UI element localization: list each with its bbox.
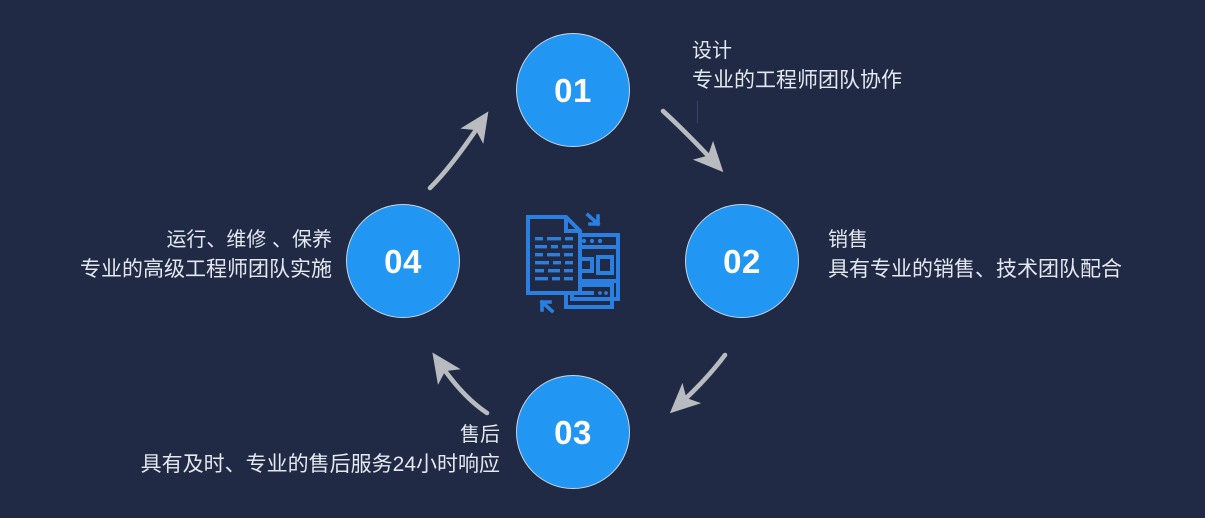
cycle-label-03-title: 售后 [141, 421, 500, 450]
cycle-diagram-canvas: 01 02 03 04 设计 专业的工程师团队协作 销售 具有专业的销售、技术团… [0, 0, 1205, 518]
cycle-node-04-number: 04 [384, 245, 422, 278]
arrow-02-to-03 [655, 345, 755, 440]
cycle-node-04[interactable]: 04 [346, 204, 460, 318]
arrow-03-to-04 [415, 335, 515, 435]
cycle-label-01-title: 设计 [692, 37, 902, 66]
cycle-label-04: 运行、维修 、保养 专业的高级工程师团队实施 [80, 226, 332, 286]
cycle-label-01: 设计 专业的工程师团队协作 [692, 37, 902, 97]
cycle-node-03-number: 03 [554, 416, 592, 449]
cycle-label-01-desc: 专业的工程师团队协作 [692, 66, 902, 97]
cycle-node-01-number: 01 [554, 74, 592, 107]
arrow-01-to-02 [655, 103, 750, 193]
cycle-node-02-number: 02 [723, 245, 761, 278]
document-exchange-icon [522, 207, 632, 319]
cycle-node-01[interactable]: 01 [516, 33, 630, 147]
cycle-label-02: 销售 具有专业的销售、技术团队配合 [828, 226, 1122, 286]
decorative-tick [697, 101, 698, 123]
cycle-node-03[interactable]: 03 [516, 375, 630, 489]
cycle-label-02-title: 销售 [828, 226, 1122, 255]
cycle-label-03: 售后 具有及时、专业的售后服务24小时响应 [141, 421, 500, 481]
cycle-node-02[interactable]: 02 [685, 204, 799, 318]
cycle-label-04-title: 运行、维修 、保养 [80, 226, 332, 255]
cycle-label-04-desc: 专业的高级工程师团队实施 [80, 255, 332, 286]
cycle-label-03-desc: 具有及时、专业的售后服务24小时响应 [141, 450, 500, 481]
cycle-label-02-desc: 具有专业的销售、技术团队配合 [828, 255, 1122, 286]
arrow-04-to-01 [418, 98, 518, 198]
